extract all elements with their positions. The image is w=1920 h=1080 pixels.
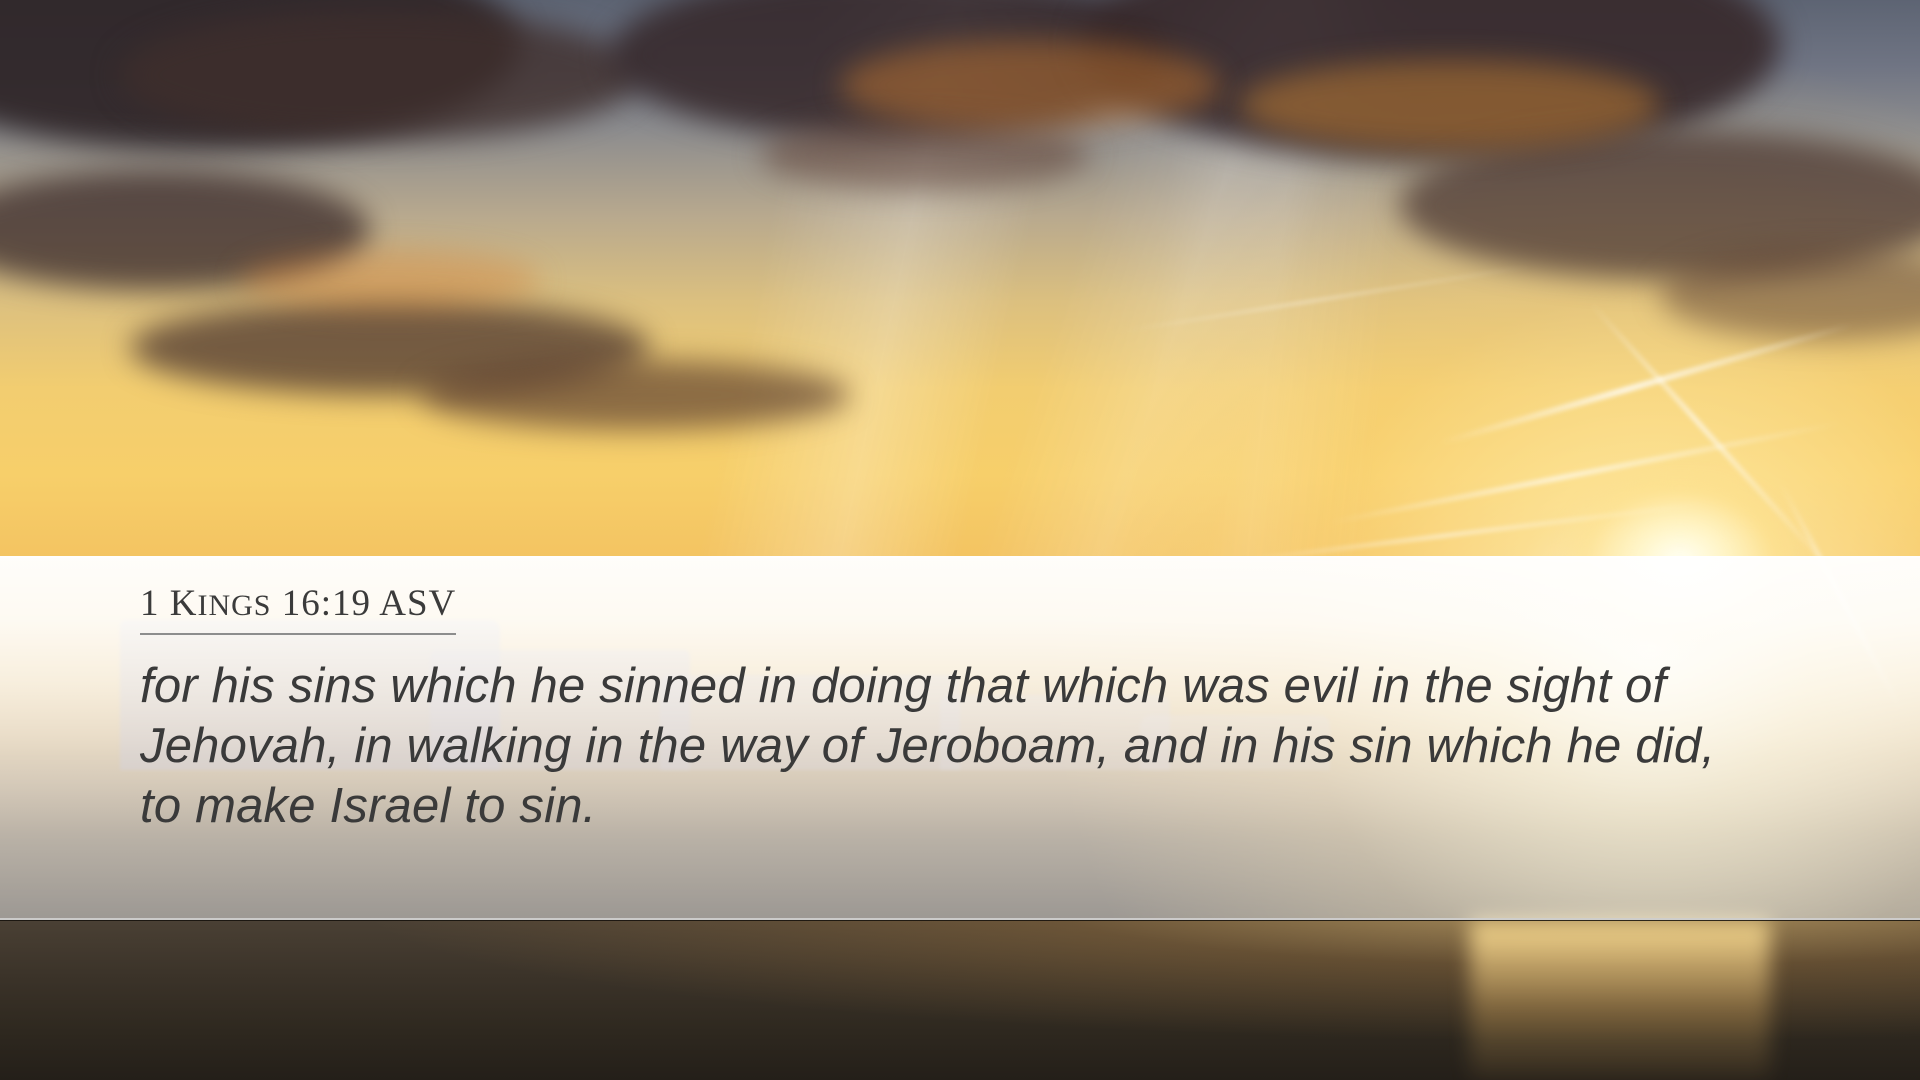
verse-text: for his sins which he sinned in doing th…	[140, 657, 1765, 836]
caption-band-bottom-rule	[0, 918, 1920, 920]
reference-book-lead: K	[170, 583, 198, 624]
cloud-highlight	[840, 40, 1220, 130]
reference-chapter-verse: 16:19	[282, 583, 380, 624]
cloud-highlight	[240, 250, 540, 310]
reference-space	[272, 583, 282, 624]
reference-book-number: 1	[140, 583, 170, 624]
sun-reflection	[1470, 920, 1770, 1080]
caption-content: 1 KINGS 16:19 ASV for his sins which he …	[140, 582, 1820, 836]
caption-band-top-rule	[0, 556, 1920, 558]
verse-wallpaper: 1 KINGS 16:19 ASV for his sins which he …	[0, 0, 1920, 1080]
cloud-shape	[120, 10, 640, 140]
cloud-shape	[760, 120, 1090, 190]
cloud-shape	[420, 360, 850, 430]
verse-reference: 1 KINGS 16:19 ASV	[140, 582, 456, 635]
cloud-highlight	[1240, 60, 1660, 150]
reference-translation: ASV	[379, 583, 456, 624]
reference-book-rest: INGS	[197, 589, 271, 622]
